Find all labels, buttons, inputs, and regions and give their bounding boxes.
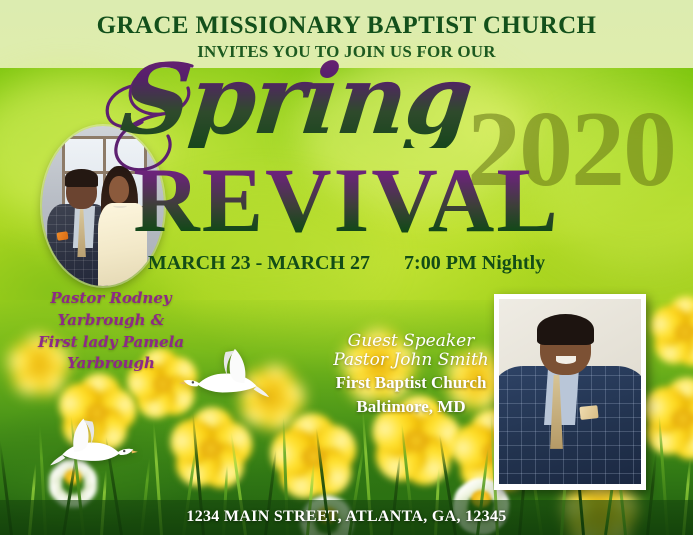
guest-shirt [544,369,579,425]
time-text: 7:00 PM Nightly [404,252,545,274]
spring-script-title: Spring [117,52,476,148]
guest-speaker-city: Baltimore, MD [318,397,504,418]
photo-inner [499,299,641,484]
footer-address: 1234 MAIN STREET, ATLANTA, GA, 12345 [0,508,693,526]
revival-title: REVIVAL [0,154,693,246]
guest-speaker-church: First Baptist Church [318,373,504,394]
guest-speaker-name: Pastor John Smith [318,351,504,370]
guest-smile [556,356,576,363]
hosts-name-line-2: First lady Pamela Yarbrough [6,332,216,376]
guest-hair [537,314,594,345]
schedule-line: MARCH 23 - MARCH 277:00 PM Nightly [0,252,693,275]
hosts-names: Pastor Rodney Yarbrough & First lady Pam… [6,288,216,375]
revival-flyer: GRACE MISSIONARY BAPTIST CHURCH INVITES … [0,0,693,535]
hosts-name-line-1: Pastor Rodney Yarbrough & [6,288,216,332]
church-name-heading: GRACE MISSIONARY BAPTIST CHURCH [0,12,693,40]
dates-text: MARCH 23 - MARCH 27 [148,252,370,274]
guest-speaker-label: Guest Speaker [318,332,504,351]
guest-pocket-square [579,405,599,420]
guest-speaker-info: Guest Speaker Pastor John Smith First Ba… [318,332,504,418]
guest-speaker-photo [494,294,646,490]
